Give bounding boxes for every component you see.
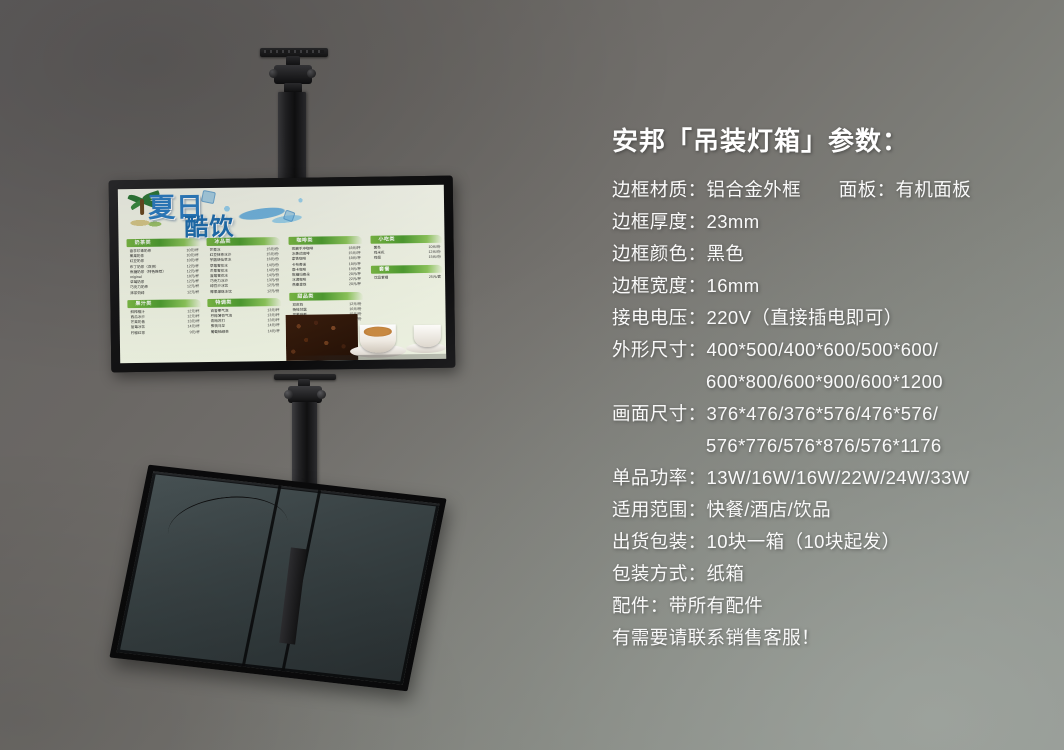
- menu-item-row: 鸡翅15元/份: [371, 255, 443, 261]
- menu-section-header: 奶茶类: [126, 238, 200, 247]
- menu-section-title: 咖啡类: [296, 237, 313, 245]
- spec-line: 有需要请联系销售客服！: [612, 629, 1042, 648]
- mount-pivot-knob-lower-right: [317, 390, 326, 399]
- menu-item-row: 柠檬红茶9元/杯: [128, 330, 202, 336]
- menu-headline-sub: 酷饮: [184, 216, 234, 241]
- mount-pivot-knob-lower-left: [284, 390, 293, 399]
- menu-column-4: 小吃类薯条10元/份鸡米花12元/份鸡翅15元/份套餐饮品套餐25元/套: [370, 235, 443, 285]
- menu-item-row: 燕麦拿铁20元/杯: [289, 282, 363, 288]
- menu-section-header: 套餐: [371, 264, 443, 273]
- mount-pivot-knob-right: [307, 69, 316, 78]
- menu-item-price: 12元/份: [267, 289, 279, 294]
- light-box-rear-panel[interactable]: [109, 465, 446, 692]
- menu-section-header: 咖啡类: [288, 236, 362, 245]
- page-title: 安邦「吊装灯箱」参数：: [612, 126, 1042, 157]
- menu-item-price: 15元/份: [429, 255, 441, 260]
- coffee-photo: [285, 303, 446, 361]
- menu-item-price: 9元/杯: [190, 330, 200, 335]
- mount-pole-upper: [278, 92, 306, 184]
- spec-line: 边框材质：铝合金外框 面板：有机面板: [612, 181, 1042, 200]
- menu-item-name: 抹茶奶绿: [130, 291, 144, 296]
- spec-line: 边框厚度：23mm: [612, 213, 1042, 232]
- menu-item-price: 25元/套: [429, 274, 441, 279]
- spec-line: 适用范围：快餐/酒店/饮品: [612, 501, 1042, 520]
- menu-section-header: 小吃类: [370, 235, 442, 244]
- ceiling-mount-upper: [250, 48, 342, 183]
- rear-panel-surface: [120, 474, 436, 681]
- menu-item-name: 椰果爆珠冰饮: [210, 289, 232, 295]
- menu-item-row: 葡萄柚绿茶14元/杯: [208, 329, 282, 335]
- menu-item-name: 葡萄柚绿茶: [211, 329, 229, 334]
- spec-line: 576*776/576*876/576*1176: [612, 437, 1042, 456]
- menu-section: 小吃类薯条10元/份鸡米花12元/份鸡翅15元/份: [370, 235, 442, 262]
- menu-section-title: 果汁类: [135, 300, 152, 308]
- menu-board-face: 夏日 酷饮 奶茶类香芋珍珠奶茶10元/杯椰果奶茶10元/杯红豆奶茶10元/杯布丁…: [118, 185, 446, 364]
- menu-section-title: 套餐: [379, 265, 390, 273]
- mount-plate-holes: [264, 50, 324, 53]
- menu-section-title: 甜品类: [297, 292, 314, 300]
- menu-section-header: 果汁类: [127, 299, 201, 308]
- menu-item-price: 20元/杯: [349, 282, 361, 287]
- menu-section: 特调类百香果气泡13元/杯柠檬薄荷气泡13元/杯青梅苏打13元/杯蜜桃乌龙14元…: [207, 298, 281, 335]
- coffee-cup-main: [360, 324, 396, 352]
- spec-line: 边框颜色：黑色: [612, 245, 1042, 264]
- menu-item-row: 椰果爆珠冰饮12元/份: [207, 289, 281, 295]
- spec-line: 包装方式：纸箱: [612, 565, 1042, 584]
- menu-section-title: 冰品类: [214, 238, 231, 246]
- spec-line: 600*800/600*900/600*1200: [612, 373, 1042, 392]
- menu-section-header: 特调类: [207, 298, 281, 307]
- mount-pivot-knob-left: [269, 69, 278, 78]
- menu-item-name: 柠檬红茶: [131, 331, 145, 336]
- menu-section-header: 冰品类: [206, 237, 280, 246]
- coffee-cup-second: [414, 325, 441, 347]
- menu-section: 奶茶类香芋珍珠奶茶10元/杯椰果奶茶10元/杯红豆奶茶10元/杯布丁奶茶（双拼）…: [126, 238, 201, 296]
- menu-section: 咖啡类现磨手冲咖啡18元/杯冰美式咖啡15元/杯拿铁咖啡18元/杯卡布奇诺18元…: [288, 236, 363, 289]
- menu-item-name: 饮品套餐: [374, 275, 388, 280]
- menu-item-price: 12元/杯: [187, 290, 199, 295]
- product-photo-scene: 夏日 酷饮 奶茶类香芋珍珠奶茶10元/杯椰果奶茶10元/杯红豆奶茶10元/杯布丁…: [0, 0, 1064, 750]
- menu-item-price: 14元/杯: [268, 329, 280, 334]
- menu-section-title: 奶茶类: [134, 239, 151, 247]
- spec-line: 外形尺寸：400*500/400*600/500*600/: [612, 341, 1042, 360]
- hanging-light-box[interactable]: 夏日 酷饮 奶茶类香芋珍珠奶茶10元/杯椰果奶茶10元/杯红豆奶茶10元/杯布丁…: [109, 176, 456, 373]
- ceiling-mount-lower: [268, 374, 360, 494]
- spec-line: 出货包装：10块一箱（10块起发）: [612, 533, 1042, 552]
- menu-section-title: 特调类: [215, 299, 232, 307]
- menu-item-row: 饮品套餐25元/套: [371, 274, 443, 280]
- spec-line: 边框宽度：16mm: [612, 277, 1042, 296]
- spec-list: 边框材质：铝合金外框 面板：有机面板边框厚度：23mm边框颜色：黑色边框宽度：1…: [612, 181, 1042, 648]
- menu-section: 冰品类芒果冰15元/份红豆抹茶冰沙15元/份芋圆烧仙草冰16元/份草莓雪花冰14…: [206, 237, 281, 295]
- menu-section-header: 甜品类: [289, 291, 363, 300]
- spec-line: 配件：带所有配件: [612, 597, 1042, 616]
- coffee-crema: [363, 327, 392, 337]
- menu-item-name: 鸡翅: [374, 256, 381, 261]
- photo-bottom-shadow: [286, 354, 446, 361]
- menu-column-2: 冰品类芒果冰15元/份红豆抹茶冰沙15元/份芋圆烧仙草冰16元/份草莓雪花冰14…: [206, 237, 281, 339]
- light-box-frame: 夏日 酷饮 奶茶类香芋珍珠奶茶10元/杯椰果奶茶10元/杯红豆奶茶10元/杯布丁…: [109, 176, 456, 373]
- spec-line: 画面尺寸：376*476/376*576/476*576/: [612, 405, 1042, 424]
- coffee-beans-image: [286, 314, 359, 361]
- menu-section: 果汁类鲜榨橙汁12元/杯西瓜冰沙12元/杯芒果奶昔13元/杯蓝莓冰饮14元/杯柠…: [127, 299, 201, 336]
- spec-line: 单品功率：13W/16W/16W/22W/24W/33W: [612, 469, 1042, 488]
- menu-column-1: 奶茶类香芋珍珠奶茶10元/杯椰果奶茶10元/杯红豆奶茶10元/杯布丁奶茶（双拼）…: [126, 238, 201, 340]
- menu-item-name: 燕麦拿铁: [292, 283, 306, 288]
- spec-line: 接电电压：220V（直接插电即可）: [612, 309, 1042, 328]
- menu-section: 套餐饮品套餐25元/套: [371, 264, 443, 280]
- menu-headline-art: 夏日 酷饮: [124, 189, 315, 244]
- spec-panel: 安邦「吊装灯箱」参数： 边框材质：铝合金外框 面板：有机面板边框厚度：23mm边…: [612, 126, 1042, 661]
- menu-item-row: 抹茶奶绿12元/杯: [127, 290, 201, 296]
- menu-section-title: 小吃类: [378, 235, 395, 243]
